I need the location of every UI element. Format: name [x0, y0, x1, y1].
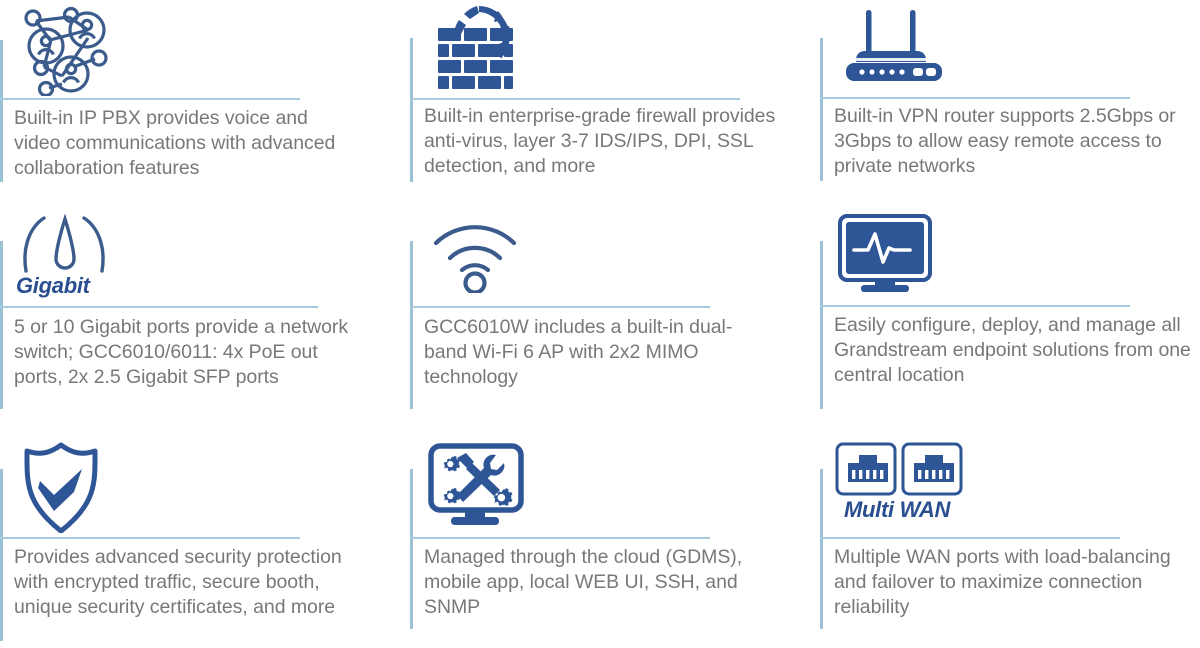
divider-line: [0, 98, 300, 100]
feature-description: Multiple WAN ports with load-balancing a…: [834, 545, 1194, 620]
icon-container: [834, 211, 938, 295]
feature-description: GCC6010W includes a built-in dual-band W…: [424, 315, 774, 390]
divider-line: [0, 537, 300, 539]
icon-container: [14, 4, 118, 96]
multi-wan-badge-label: Multi WAN: [844, 497, 950, 523]
accent-bar-bottom: [410, 104, 413, 182]
gigabit-arcs-icon: .: [14, 213, 114, 275]
icon-container: [424, 213, 530, 293]
icon-container: [424, 441, 528, 527]
accent-bar-bottom: [820, 311, 823, 391]
feature-card-cloud-management: Managed through the cloud (GDMS), mobile…: [410, 435, 820, 648]
feature-card-gigabit-ports: . Gigabit 5 or 10 Gigabit ports provide …: [0, 205, 410, 435]
icon-container: [424, 2, 534, 96]
feature-card-firewall: Built-in enterprise-grade firewall provi…: [410, 0, 820, 205]
accent-bar-bottom: [0, 312, 3, 404]
feature-description: Easily configure, deploy, and manage all…: [834, 313, 1194, 388]
feature-grid: Built-in IP PBX provides voice and video…: [0, 0, 1200, 648]
feature-description: Provides advanced security protection wi…: [14, 545, 364, 620]
feature-description: Managed through the cloud (GDMS), mobile…: [424, 545, 774, 620]
feature-card-multi-wan: Multi WAN Multiple WAN ports with load-b…: [820, 435, 1200, 648]
accent-bar-bottom: [820, 543, 823, 621]
network-people-icon: [14, 4, 118, 96]
icon-container: Multi WAN: [834, 441, 964, 523]
feature-card-security: Provides advanced security protection wi…: [0, 435, 410, 648]
feature-description: Built-in VPN router supports 2.5Gbps or …: [834, 104, 1194, 179]
monitor-tools-gears-icon: [424, 441, 528, 527]
feature-card-central-management: Easily configure, deploy, and manage all…: [820, 205, 1200, 435]
divider-line: [0, 306, 318, 308]
divider-line: [410, 98, 740, 100]
divider-line: [410, 537, 710, 539]
feature-card-wifi6: GCC6010W includes a built-in dual-band W…: [410, 205, 820, 435]
icon-container: . Gigabit: [14, 213, 114, 299]
firewall-brickwall-globe-icon: [424, 2, 534, 96]
accent-bar-bottom: [0, 104, 3, 182]
wifi-signal-icon: [424, 213, 530, 293]
accent-bar-bottom: [820, 103, 823, 181]
icon-container: [14, 439, 110, 533]
feature-card-vpn-router: Built-in VPN router supports 2.5Gbps or …: [820, 0, 1200, 205]
rj45-dual-port-icon: [834, 441, 964, 497]
gigabit-badge-label: Gigabit: [16, 273, 90, 299]
vpn-router-icon: [834, 6, 952, 86]
divider-line: [820, 537, 1120, 539]
icon-container: [834, 6, 952, 86]
divider-line: [820, 97, 1130, 99]
divider-line: [410, 306, 710, 308]
feature-description: 5 or 10 Gigabit ports provide a network …: [14, 315, 364, 390]
accent-bar-bottom: [410, 312, 413, 404]
monitor-pulse-icon: [834, 211, 938, 295]
feature-description: Built-in IP PBX provides voice and video…: [14, 106, 354, 181]
divider-line: [820, 305, 1130, 307]
shield-check-icon: [14, 439, 110, 533]
accent-bar-bottom: [0, 543, 3, 641]
feature-card-ip-pbx: Built-in IP PBX provides voice and video…: [0, 0, 410, 205]
feature-description: Built-in enterprise-grade firewall provi…: [424, 104, 784, 179]
accent-bar-bottom: [410, 543, 413, 621]
